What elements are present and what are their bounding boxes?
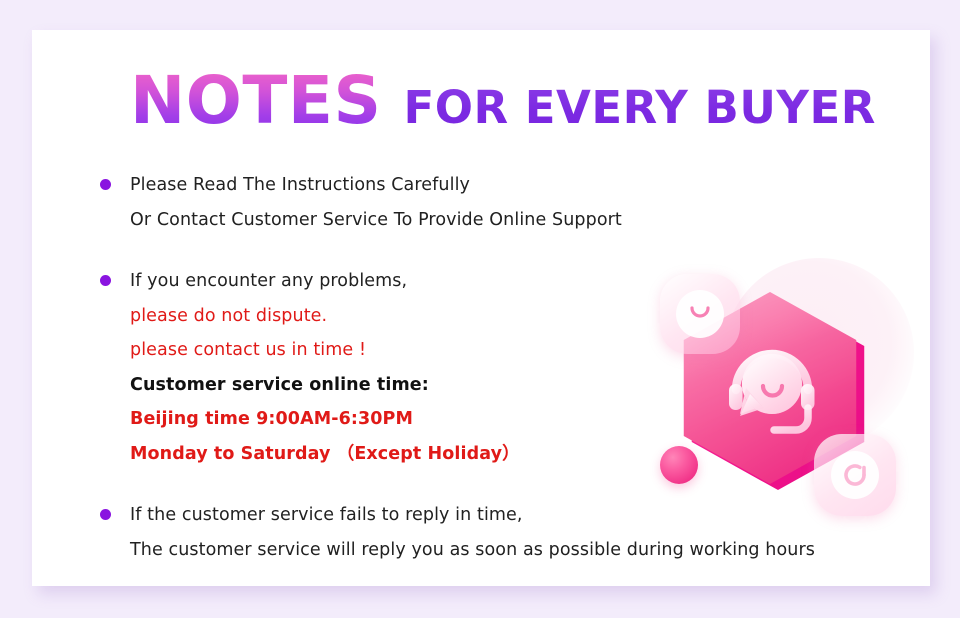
badge-refresh	[814, 434, 896, 516]
refresh-icon	[838, 458, 872, 492]
notes-card: NOTES FOR EVERY BUYER Please Read The In…	[32, 30, 930, 586]
badge-smile	[660, 274, 740, 354]
bullet-3-icon	[100, 509, 111, 520]
note-line: The customer service will reply you as s…	[130, 533, 890, 568]
bullet-2-icon	[100, 275, 111, 286]
page-title-sub: FOR EVERY BUYER	[403, 85, 875, 130]
badge-smile-disc	[676, 290, 724, 338]
page-title: NOTES FOR EVERY BUYER	[130, 68, 876, 134]
note-block: Please Read The Instructions CarefullyOr…	[100, 168, 890, 237]
note-line: Please Read The Instructions Carefully	[130, 168, 890, 203]
bullet-1-icon	[100, 179, 111, 190]
note-line: Or Contact Customer Service To Provide O…	[130, 203, 890, 238]
badge-refresh-disc	[831, 451, 879, 499]
smile-icon	[686, 304, 714, 324]
customer-service-illustration	[632, 252, 932, 522]
headset-support-icon	[716, 332, 828, 444]
decorative-sphere	[660, 446, 698, 484]
page-title-main: NOTES	[130, 68, 381, 134]
